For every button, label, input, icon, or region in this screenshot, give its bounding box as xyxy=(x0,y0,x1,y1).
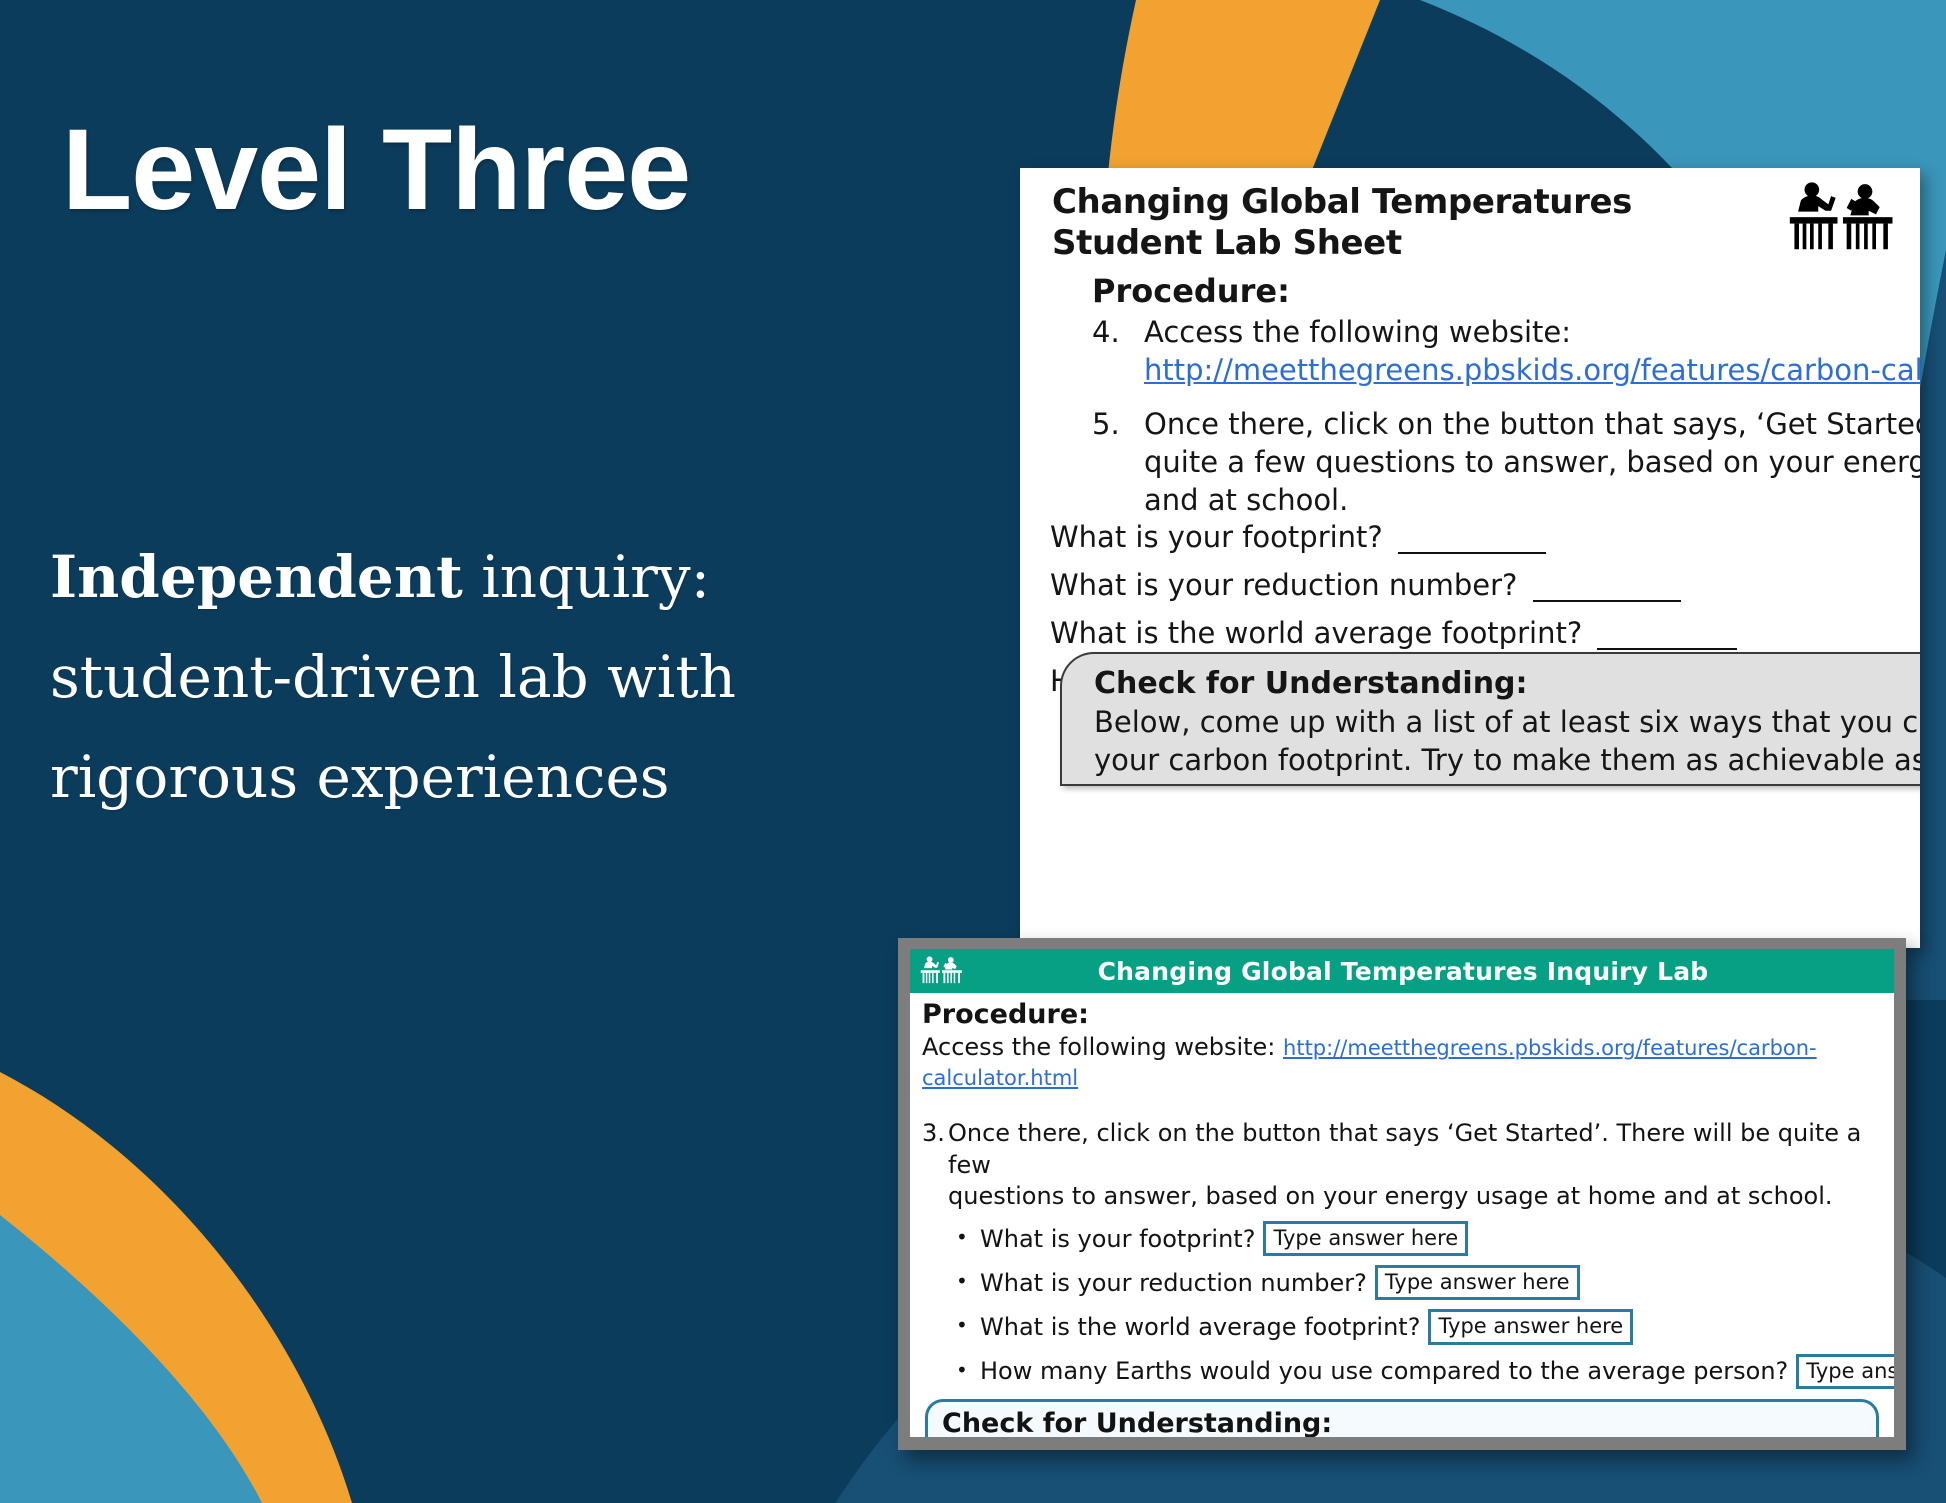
lab-sheet-question: What is the world average footprint? xyxy=(1050,616,1737,650)
inquiry-question-label: How many Earths would you use compared t… xyxy=(980,1356,1788,1386)
slide-body-emphasis: Independent xyxy=(50,543,463,611)
lab-sheet-cfu-line2: your carbon footprint. Try to make them … xyxy=(1094,743,1920,777)
lab-sheet-check-for-understanding: Check for Understanding: Below, come up … xyxy=(1060,652,1920,786)
bullet-icon: • xyxy=(956,1313,968,1338)
world-average-answer-input[interactable]: Type answer here xyxy=(1428,1309,1633,1344)
inquiry-access-line: Access the following website: http://mee… xyxy=(922,1032,1882,1092)
list-item: • What is your reduction number? Type an… xyxy=(922,1265,1882,1300)
inquiry-question-label: What is your footprint? xyxy=(980,1224,1255,1254)
student-lab-sheet-document: Changing Global Temperatures Student Lab… xyxy=(1020,168,1920,948)
lab-sheet-cfu-title: Check for Understanding: xyxy=(1094,666,1528,701)
answer-rule[interactable] xyxy=(1597,624,1737,650)
list-item: • What is your footprint? Type answer he… xyxy=(922,1221,1882,1256)
lab-sheet-question-label: What is your footprint? xyxy=(1050,520,1383,554)
lab-sheet-cfu-line1: Below, come up with a list of at least s… xyxy=(1094,705,1920,739)
lab-sheet-question: What is your reduction number? xyxy=(1050,568,1681,602)
lab-sheet-item-4: 4. Access the following website: http://… xyxy=(1092,314,1920,389)
inquiry-cfu-title: Check for Understanding: xyxy=(942,1408,1862,1437)
inquiry-check-for-understanding: Check for Understanding: Below, come up … xyxy=(925,1399,1879,1437)
students-at-desks-icon xyxy=(920,954,964,988)
lab-sheet-title-line1: Changing Global Temperatures xyxy=(1052,182,1632,222)
reduction-number-answer-input[interactable]: Type answer here xyxy=(1375,1265,1580,1300)
inquiry-lab-document: Changing Global Temperatures Inquiry Lab… xyxy=(898,938,1906,1450)
inquiry-lab-page: Changing Global Temperatures Inquiry Lab… xyxy=(910,949,1894,1437)
lab-sheet-item-5-line2: quite a few questions to answer, based o… xyxy=(1144,444,1920,482)
lab-sheet-procedure-label: Procedure: xyxy=(1092,272,1290,310)
lab-sheet-item-4-text: Access the following website: xyxy=(1144,314,1920,352)
lab-sheet-item-4-number: 4. xyxy=(1092,314,1120,352)
answer-rule[interactable] xyxy=(1398,528,1546,554)
slide-body-text: Independent inquiry: student-driven lab … xyxy=(50,528,890,827)
inquiry-question-list: • What is your footprint? Type answer he… xyxy=(922,1221,1882,1389)
lab-sheet-item-5: 5. Once there, click on the button that … xyxy=(1092,406,1920,520)
inquiry-step-3-line2: questions to answer, based on your energ… xyxy=(948,1182,1833,1210)
bullet-icon: • xyxy=(956,1269,968,1294)
earths-answer-input[interactable]: Type answer here xyxy=(1796,1354,1894,1389)
inquiry-lab-header-bar: Changing Global Temperatures Inquiry Lab xyxy=(910,949,1894,993)
bullet-icon: • xyxy=(956,1225,968,1250)
inquiry-procedure-label: Procedure: xyxy=(922,999,1882,1031)
lab-sheet-title: Changing Global Temperatures Student Lab… xyxy=(1052,182,1632,265)
lab-sheet-item-5-line3: and at school. xyxy=(1144,482,1920,520)
lab-sheet-item-5-number: 5. xyxy=(1092,406,1120,444)
inquiry-step-3-line1: Once there, click on the button that say… xyxy=(948,1119,1861,1178)
footprint-answer-input[interactable]: Type answer here xyxy=(1263,1221,1468,1256)
lab-sheet-question-label: What is your reduction number? xyxy=(1050,568,1517,602)
inquiry-lab-body: Procedure: Access the following website:… xyxy=(910,993,1894,1437)
list-item: • How many Earths would you use compared… xyxy=(922,1354,1882,1389)
lab-sheet-item-5-line1: Once there, click on the button that say… xyxy=(1144,406,1920,444)
lab-sheet-title-line2: Student Lab Sheet xyxy=(1052,223,1402,263)
inquiry-lab-title: Changing Global Temperatures Inquiry Lab xyxy=(964,957,1842,986)
students-at-desks-icon xyxy=(1788,180,1898,258)
lab-sheet-question: What is your footprint? xyxy=(1050,520,1546,554)
inquiry-step-3: 3. Once there, click on the button that … xyxy=(922,1118,1882,1212)
inquiry-step-3-number: 3. xyxy=(922,1118,945,1149)
inquiry-question-label: What is the world average footprint? xyxy=(980,1312,1420,1342)
answer-rule[interactable] xyxy=(1533,576,1681,602)
carbon-calculator-link[interactable]: http://meetthegreens.pbskids.org/feature… xyxy=(1144,352,1920,390)
inquiry-access-text: Access the following website: xyxy=(922,1033,1283,1061)
inquiry-question-label: What is your reduction number? xyxy=(980,1268,1367,1298)
bullet-icon: • xyxy=(956,1358,968,1383)
lab-sheet-question-label: What is the world average footprint? xyxy=(1050,616,1582,650)
lab-sheet-cfu-body: Below, come up with a list of at least s… xyxy=(1094,704,1920,779)
list-item: • What is the world average footprint? T… xyxy=(922,1309,1882,1344)
page-title: Level Three xyxy=(62,110,690,231)
